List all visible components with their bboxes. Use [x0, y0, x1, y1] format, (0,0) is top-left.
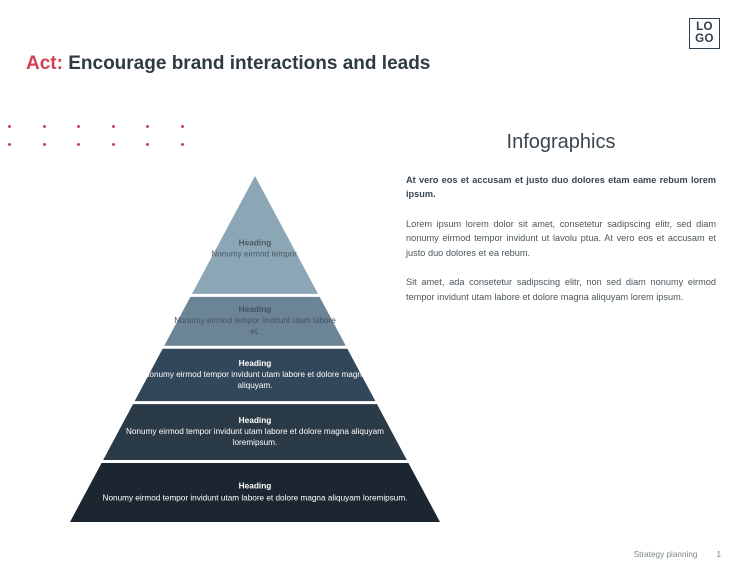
decor-dot	[181, 125, 184, 128]
infographics-title: Infographics	[406, 131, 716, 154]
decor-dot	[43, 125, 46, 128]
decor-dot	[112, 125, 115, 128]
decor-dot	[146, 143, 149, 146]
logo-line-2: GO	[695, 34, 714, 46]
logo: LO GO	[689, 18, 720, 49]
pyramid-chart: HeadingNonumy eirmod tempor.HeadingNonum…	[62, 168, 452, 530]
decor-dot	[8, 125, 11, 128]
decor-dot	[77, 125, 80, 128]
infographics-paragraph-1: Lorem ipsum lorem dolor sit amet, conset…	[406, 217, 716, 261]
infographics-lead-paragraph: At vero eos et accusam et justo duo dolo…	[406, 173, 716, 202]
decor-dot	[146, 125, 149, 128]
infographics-paragraph-2: Sit amet, ada consetetur sadipscing elit…	[406, 275, 716, 304]
page-title: Act: Encourage brand interactions and le…	[26, 53, 430, 75]
infographics-panel: Infographics At vero eos et accusam et j…	[406, 131, 716, 319]
decor-dot	[181, 143, 184, 146]
pyramid-tier-1[interactable]	[192, 176, 318, 294]
decor-dot	[112, 143, 115, 146]
footer: Strategy planning 1	[634, 550, 721, 559]
page-title-rest: Encourage brand interactions and leads	[68, 53, 430, 74]
decor-dot	[77, 143, 80, 146]
pyramid-tier-3[interactable]	[135, 349, 376, 401]
decor-dot	[8, 143, 11, 146]
pyramid-tier-2[interactable]	[164, 297, 346, 346]
decorative-dot-grid	[8, 125, 215, 161]
logo-line-1: LO	[696, 22, 713, 34]
decor-dot	[43, 143, 46, 146]
footer-page-number: 1	[716, 550, 721, 559]
page-title-accent: Act:	[26, 53, 63, 74]
pyramid-tier-4[interactable]	[103, 404, 407, 460]
footer-label: Strategy planning	[634, 550, 698, 559]
pyramid-svg	[62, 168, 452, 530]
pyramid-tier-5[interactable]	[70, 463, 440, 522]
